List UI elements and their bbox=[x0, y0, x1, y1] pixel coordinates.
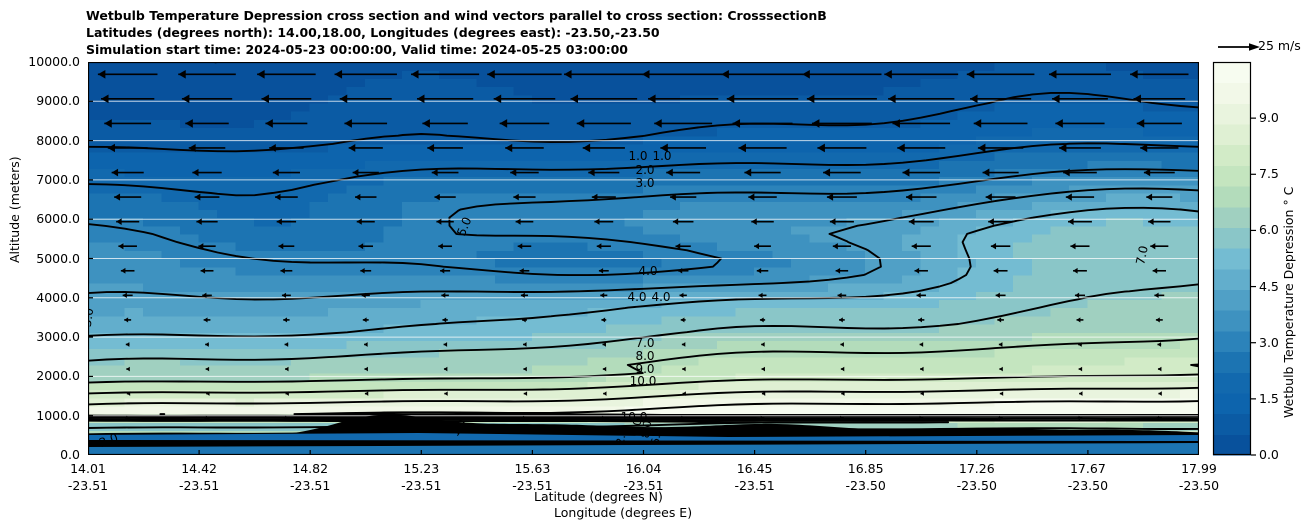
contour-label: 4.0 bbox=[638, 264, 657, 278]
colorbar-tick-label: 3.0 bbox=[1259, 335, 1299, 350]
x-axis-tick-label-longitude: -23.50 bbox=[932, 478, 1022, 493]
colorbar-label: Wetbulb Temperature Depression ° C bbox=[1281, 187, 1296, 418]
x-axis-tick-label-longitude: -23.50 bbox=[1154, 478, 1244, 493]
y-axis-tick-label: 1000.0 bbox=[0, 408, 80, 423]
contour-label: 7.0 bbox=[635, 336, 654, 350]
colorbar-tick-label: 4.5 bbox=[1259, 279, 1299, 294]
x-axis-tick-label-longitude: -23.51 bbox=[487, 478, 577, 493]
x-axis-tick-label-latitude: 17.99 bbox=[1154, 461, 1244, 476]
x-axis-tick-label-longitude: -23.51 bbox=[599, 478, 689, 493]
figure-title-line1: Wetbulb Temperature Depression cross sec… bbox=[86, 8, 827, 23]
contour-label: 10.0 bbox=[630, 374, 657, 388]
colorbar-tick-label: 6.0 bbox=[1259, 222, 1299, 237]
x-axis-tick-label-longitude: -23.51 bbox=[154, 478, 244, 493]
cross-section-svg: 1.01.01.02.03.03.05.04.04.04.07.07.08.09… bbox=[88, 62, 1199, 455]
y-axis-tick-label: 9000.0 bbox=[0, 93, 80, 108]
contour-label: 8.0 bbox=[635, 349, 654, 363]
contour-label: 1.0 bbox=[652, 149, 671, 163]
y-axis-tick-label: 8000.0 bbox=[0, 133, 80, 148]
colorbar[interactable] bbox=[1213, 62, 1251, 455]
x-axis-tick-label-longitude: -23.50 bbox=[821, 478, 911, 493]
y-axis-tick-label: 10000.0 bbox=[0, 54, 80, 69]
y-axis-tick-label: 6000.0 bbox=[0, 211, 80, 226]
contour-label: 3.0 bbox=[635, 176, 654, 190]
y-axis-tick-label: 4000.0 bbox=[0, 290, 80, 305]
figure-canvas: Wetbulb Temperature Depression cross sec… bbox=[0, 0, 1312, 526]
x-axis-tick-label-latitude: 15.63 bbox=[487, 461, 577, 476]
y-axis-tick-label: 0.0 bbox=[0, 447, 80, 462]
y-axis-tick-label: 5000.0 bbox=[0, 251, 80, 266]
x-axis-tick-label-latitude: 16.45 bbox=[710, 461, 800, 476]
x-axis-tick-label-longitude: -23.51 bbox=[43, 478, 133, 493]
x-axis-tick-label-latitude: 15.23 bbox=[376, 461, 466, 476]
y-axis-tick-label: 2000.0 bbox=[0, 368, 80, 383]
x-axis-tick-label-longitude: -23.51 bbox=[265, 478, 355, 493]
x-axis-tick-label-longitude: -23.51 bbox=[710, 478, 800, 493]
contour-label: 1.0 bbox=[628, 149, 647, 163]
contour-label: 4.0 bbox=[651, 290, 670, 304]
colorbar-tick-label: 1.5 bbox=[1259, 391, 1299, 406]
y-axis-tick-label: 3000.0 bbox=[0, 329, 80, 344]
colorbar-tick-label: 9.0 bbox=[1259, 110, 1299, 125]
colorbar-tick-label: 0.0 bbox=[1259, 447, 1299, 462]
x-axis-tick-label-latitude: 14.42 bbox=[154, 461, 244, 476]
colorbar-svg bbox=[1213, 62, 1251, 455]
x-axis-tick-label-latitude: 16.04 bbox=[599, 461, 689, 476]
contour-label: 4.0 bbox=[627, 290, 646, 304]
x-axis-tick-label-longitude: -23.51 bbox=[376, 478, 466, 493]
figure-title-line3: Simulation start time: 2024-05-23 00:00:… bbox=[86, 42, 628, 57]
x-axis-tick-label-latitude: 14.82 bbox=[265, 461, 355, 476]
cross-section-plot[interactable]: 1.01.01.02.03.03.05.04.04.04.07.07.08.09… bbox=[88, 62, 1199, 455]
x-axis-tick-label-latitude: 17.67 bbox=[1043, 461, 1133, 476]
wind-vector-key-label: 25 m/s bbox=[1258, 38, 1301, 53]
x-axis-tick-label-latitude: 16.85 bbox=[821, 461, 911, 476]
y-axis-tick-label: 7000.0 bbox=[0, 172, 80, 187]
x-axis-tick-label-latitude: 14.01 bbox=[43, 461, 133, 476]
contour-label: 2.0 bbox=[635, 163, 654, 177]
x-axis-tick-label-longitude: -23.50 bbox=[1043, 478, 1133, 493]
x-axis-label-longitude: Longitude (degrees E) bbox=[554, 505, 692, 520]
colorbar-tick-label: 7.5 bbox=[1259, 166, 1299, 181]
figure-title-line2: Latitudes (degrees north): 14.00,18.00, … bbox=[86, 25, 660, 40]
x-axis-tick-label-latitude: 17.26 bbox=[932, 461, 1022, 476]
